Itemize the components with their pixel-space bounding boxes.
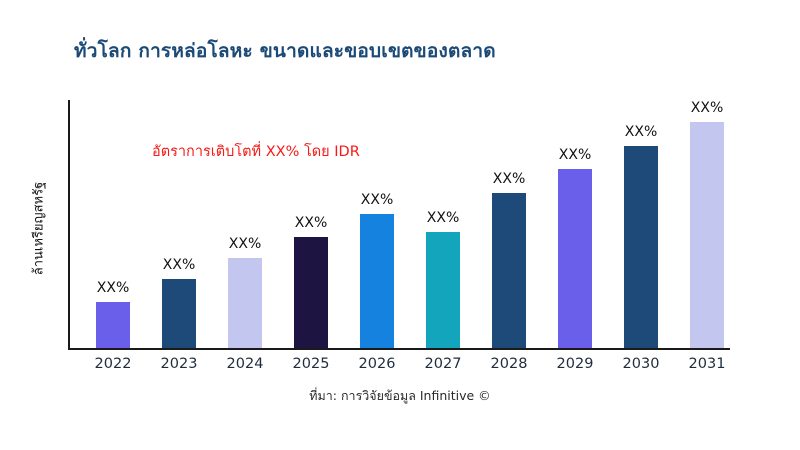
bar-group-2025[interactable]: XX%2025	[278, 100, 344, 348]
x-axis-tick-2031: 2031	[689, 356, 726, 372]
bar-value-label-2024: XX%	[229, 236, 261, 252]
x-axis-tick-2026: 2026	[359, 356, 396, 372]
y-axis-line	[68, 100, 70, 349]
bar-value-label-2025: XX%	[295, 215, 327, 231]
page-title: ทั่วโลก การหล่อโลหะ ขนาดและขอบเขตของตลาด	[74, 36, 774, 66]
bar-value-label-2023: XX%	[163, 257, 195, 273]
bar-group-2024[interactable]: XX%2024	[212, 100, 278, 348]
bar-2028[interactable]	[492, 193, 526, 348]
bar-group-2027[interactable]: XX%2027	[410, 100, 476, 348]
x-axis-tick-2029: 2029	[557, 356, 594, 372]
x-axis-tick-2025: 2025	[293, 356, 330, 372]
bar-group-2026[interactable]: XX%2026	[344, 100, 410, 348]
bar-2023[interactable]	[162, 279, 196, 348]
bar-group-2028[interactable]: XX%2028	[476, 100, 542, 348]
bar-2031[interactable]	[690, 122, 724, 348]
bar-group-2023[interactable]: XX%2023	[146, 100, 212, 348]
bar-group-2029[interactable]: XX%2029	[542, 100, 608, 348]
bar-2024[interactable]	[228, 258, 262, 348]
x-axis-tick-2022: 2022	[95, 356, 132, 372]
source-note: ที่มา: การวิจัยข้อมูล Infinitive ©	[0, 386, 800, 406]
bar-value-label-2031: XX%	[691, 100, 723, 116]
bar-2030[interactable]	[624, 146, 658, 348]
bar-value-label-2022: XX%	[97, 280, 129, 296]
market-size-bar-chart: ทั่วโลก การหล่อโลหะ ขนาดและขอบเขตของตลาด…	[0, 0, 800, 450]
bar-value-label-2026: XX%	[361, 192, 393, 208]
bar-group-2031[interactable]: XX%2031	[674, 100, 740, 348]
bar-value-label-2028: XX%	[493, 171, 525, 187]
x-axis-tick-2023: 2023	[161, 356, 198, 372]
bar-2026[interactable]	[360, 214, 394, 348]
x-axis-tick-2024: 2024	[227, 356, 264, 372]
x-axis-tick-2030: 2030	[623, 356, 660, 372]
bar-2029[interactable]	[558, 169, 592, 348]
x-axis-tick-2027: 2027	[425, 356, 462, 372]
bar-group-2022[interactable]: XX%2022	[80, 100, 146, 348]
bar-value-label-2030: XX%	[625, 124, 657, 140]
growth-rate-annotation: อัตราการเติบโตที่ XX% โดย IDR	[152, 140, 360, 163]
bar-value-label-2029: XX%	[559, 147, 591, 163]
plot-area: XX%2022XX%2023XX%2024XX%2025XX%2026XX%20…	[68, 100, 782, 348]
bar-2027[interactable]	[426, 232, 460, 348]
bar-2022[interactable]	[96, 302, 130, 348]
x-axis-tick-2028: 2028	[491, 356, 528, 372]
bar-group-2030[interactable]: XX%2030	[608, 100, 674, 348]
bar-value-label-2027: XX%	[427, 210, 459, 226]
y-axis-label: ล้านเหรียญสหรัฐ	[28, 109, 49, 349]
bar-2025[interactable]	[294, 237, 328, 348]
x-axis-line	[68, 348, 730, 350]
